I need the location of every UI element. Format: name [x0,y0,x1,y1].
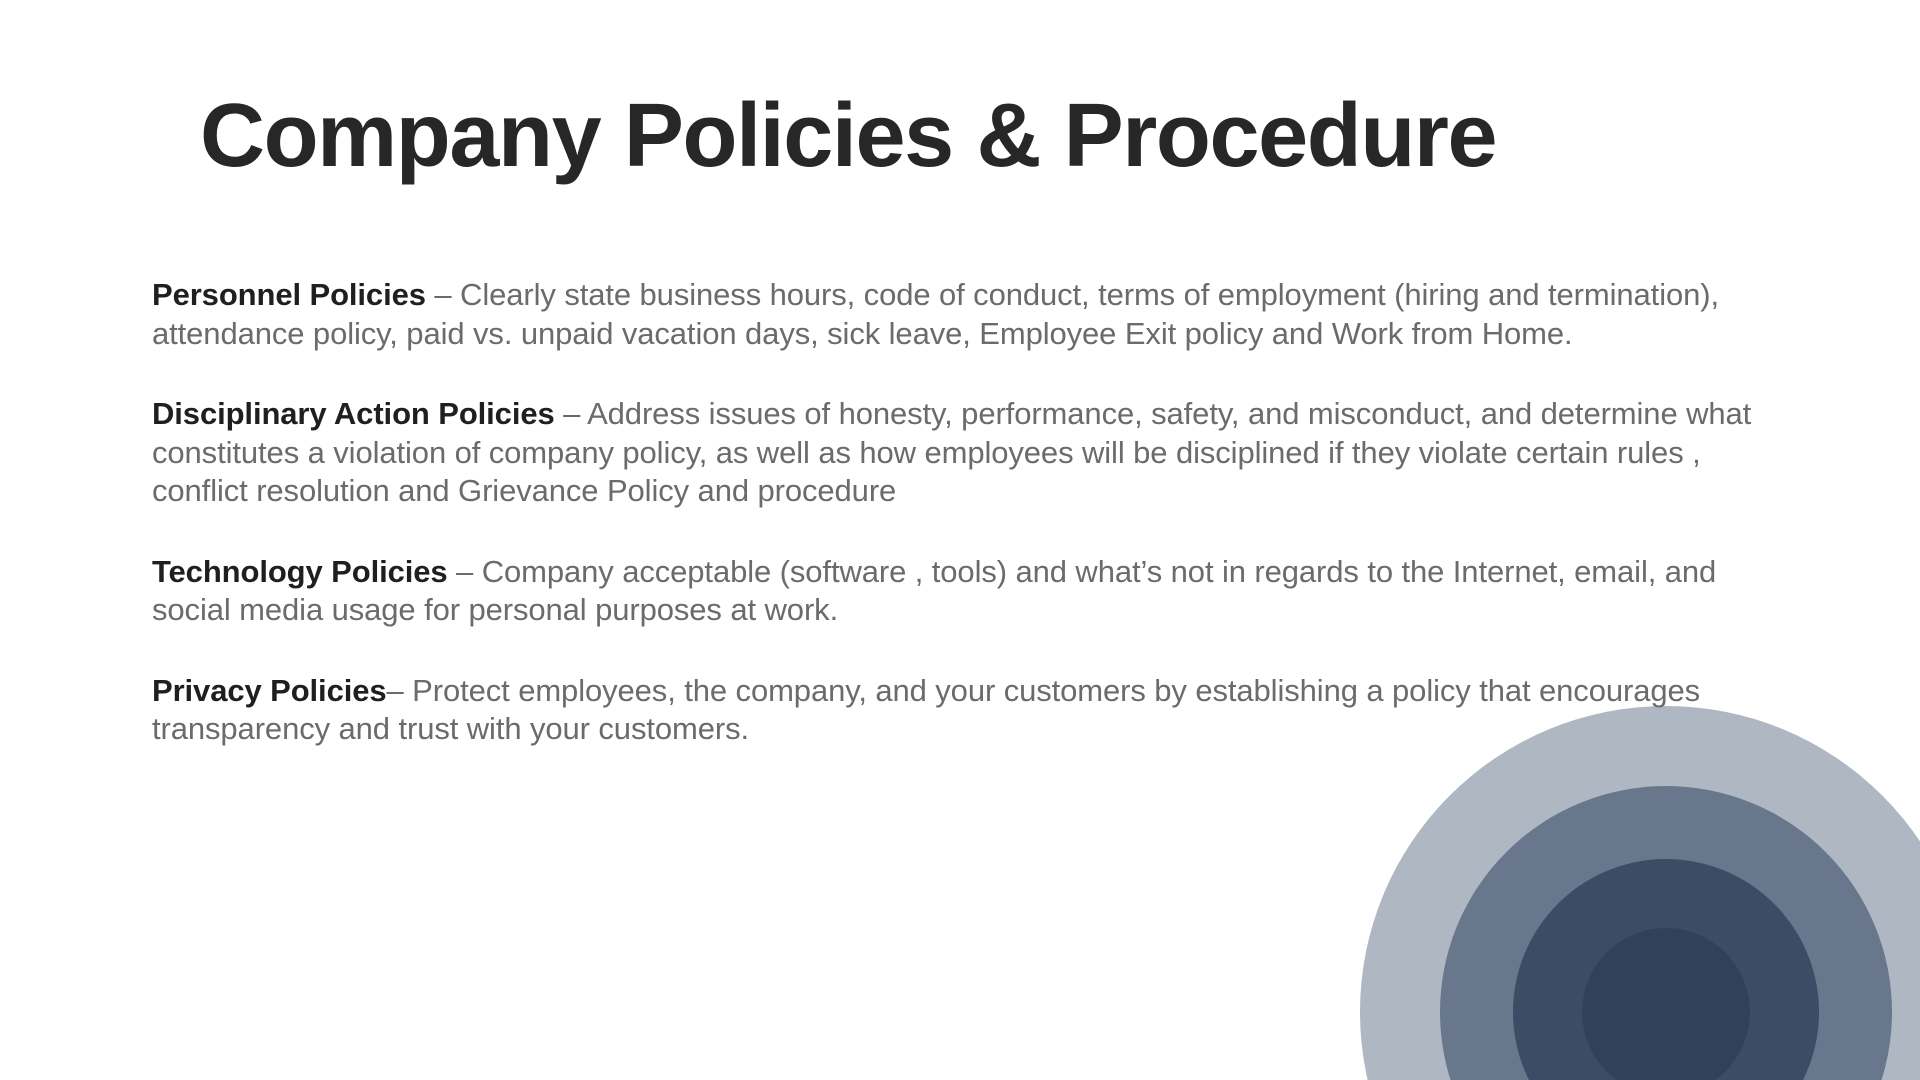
policy-separator: – [387,673,413,708]
policy-list: Personnel Policies – Clearly state busin… [152,276,1782,749]
circle-outer-shape [1360,706,1920,1080]
policy-separator: – [448,554,482,589]
circle-third-shape [1513,859,1819,1080]
slide-canvas: Company Policies & Procedure Personnel P… [0,0,1920,1080]
concentric-circles-decoration [1360,706,1920,1080]
policy-separator: – [426,277,460,312]
policy-separator: – [555,396,587,431]
policy-item-privacy: Privacy Policies– Protect employees, the… [152,672,1782,749]
policy-item-personnel: Personnel Policies – Clearly state busin… [152,276,1782,353]
circle-second-shape [1440,786,1892,1080]
policy-term: Technology Policies [152,554,448,589]
page-title: Company Policies & Procedure [200,88,1760,185]
policy-term: Disciplinary Action Policies [152,396,555,431]
circle-inner-shape [1582,928,1750,1080]
policy-item-disciplinary-action: Disciplinary Action Policies – Address i… [152,395,1782,511]
policy-item-technology: Technology Policies – Company acceptable… [152,553,1782,630]
policy-term: Privacy Policies [152,673,387,708]
policy-term: Personnel Policies [152,277,426,312]
